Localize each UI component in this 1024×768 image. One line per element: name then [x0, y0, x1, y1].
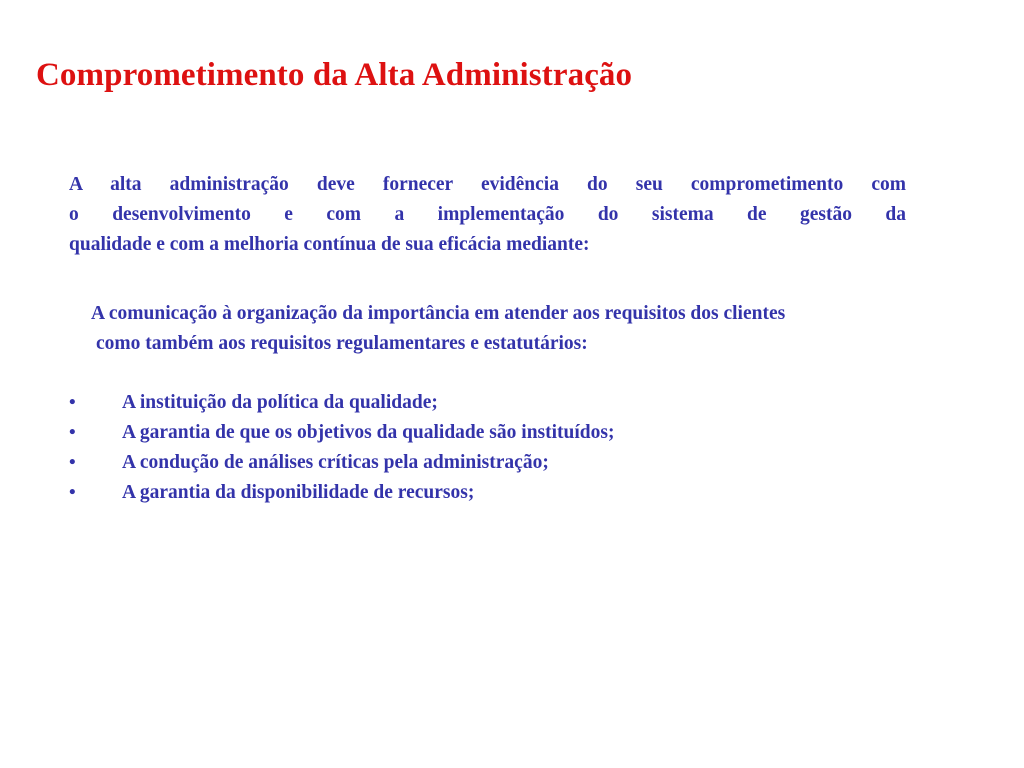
slide-canvas: Comprometimento da Alta Administração A … — [0, 0, 1024, 768]
bullet-list: • A instituição da política da qualidade… — [69, 388, 969, 508]
list-item: • A instituição da política da qualidade… — [69, 388, 969, 418]
list-item-label: A instituição da política da qualidade; — [122, 388, 438, 418]
communication-paragraph-line-2: como também aos requisitos regulamentare… — [91, 329, 1021, 359]
bullet-dot-icon: • — [69, 388, 83, 418]
bullet-dot-icon: • — [69, 448, 83, 478]
list-item-label: A garantia de que os objetivos da qualid… — [122, 418, 614, 448]
list-item: • A condução de análises críticas pela a… — [69, 448, 969, 478]
bullet-dot-icon: • — [69, 418, 83, 448]
communication-paragraph: A comunicação à organização da importânc… — [91, 299, 1021, 359]
communication-paragraph-line-1: A comunicação à organização da importânc… — [91, 303, 785, 324]
list-item: • A garantia da disponibilidade de recur… — [69, 478, 969, 508]
intro-paragraph-line-1: A alta administração deve fornecer evidê… — [69, 170, 906, 200]
bullet-dot-icon: • — [69, 478, 83, 508]
list-item: • A garantia de que os objetivos da qual… — [69, 418, 969, 448]
intro-paragraph-line-2: o desenvolvimento e com a implementação … — [69, 200, 906, 230]
intro-paragraph-line-3: qualidade e com a melhoria contínua de s… — [69, 230, 906, 260]
list-item-label: A garantia da disponibilidade de recurso… — [122, 478, 474, 508]
list-item-label: A condução de análises críticas pela adm… — [122, 448, 549, 478]
intro-paragraph: A alta administração deve fornecer evidê… — [69, 170, 906, 260]
slide-body: A alta administração deve fornecer evidê… — [0, 0, 1024, 768]
